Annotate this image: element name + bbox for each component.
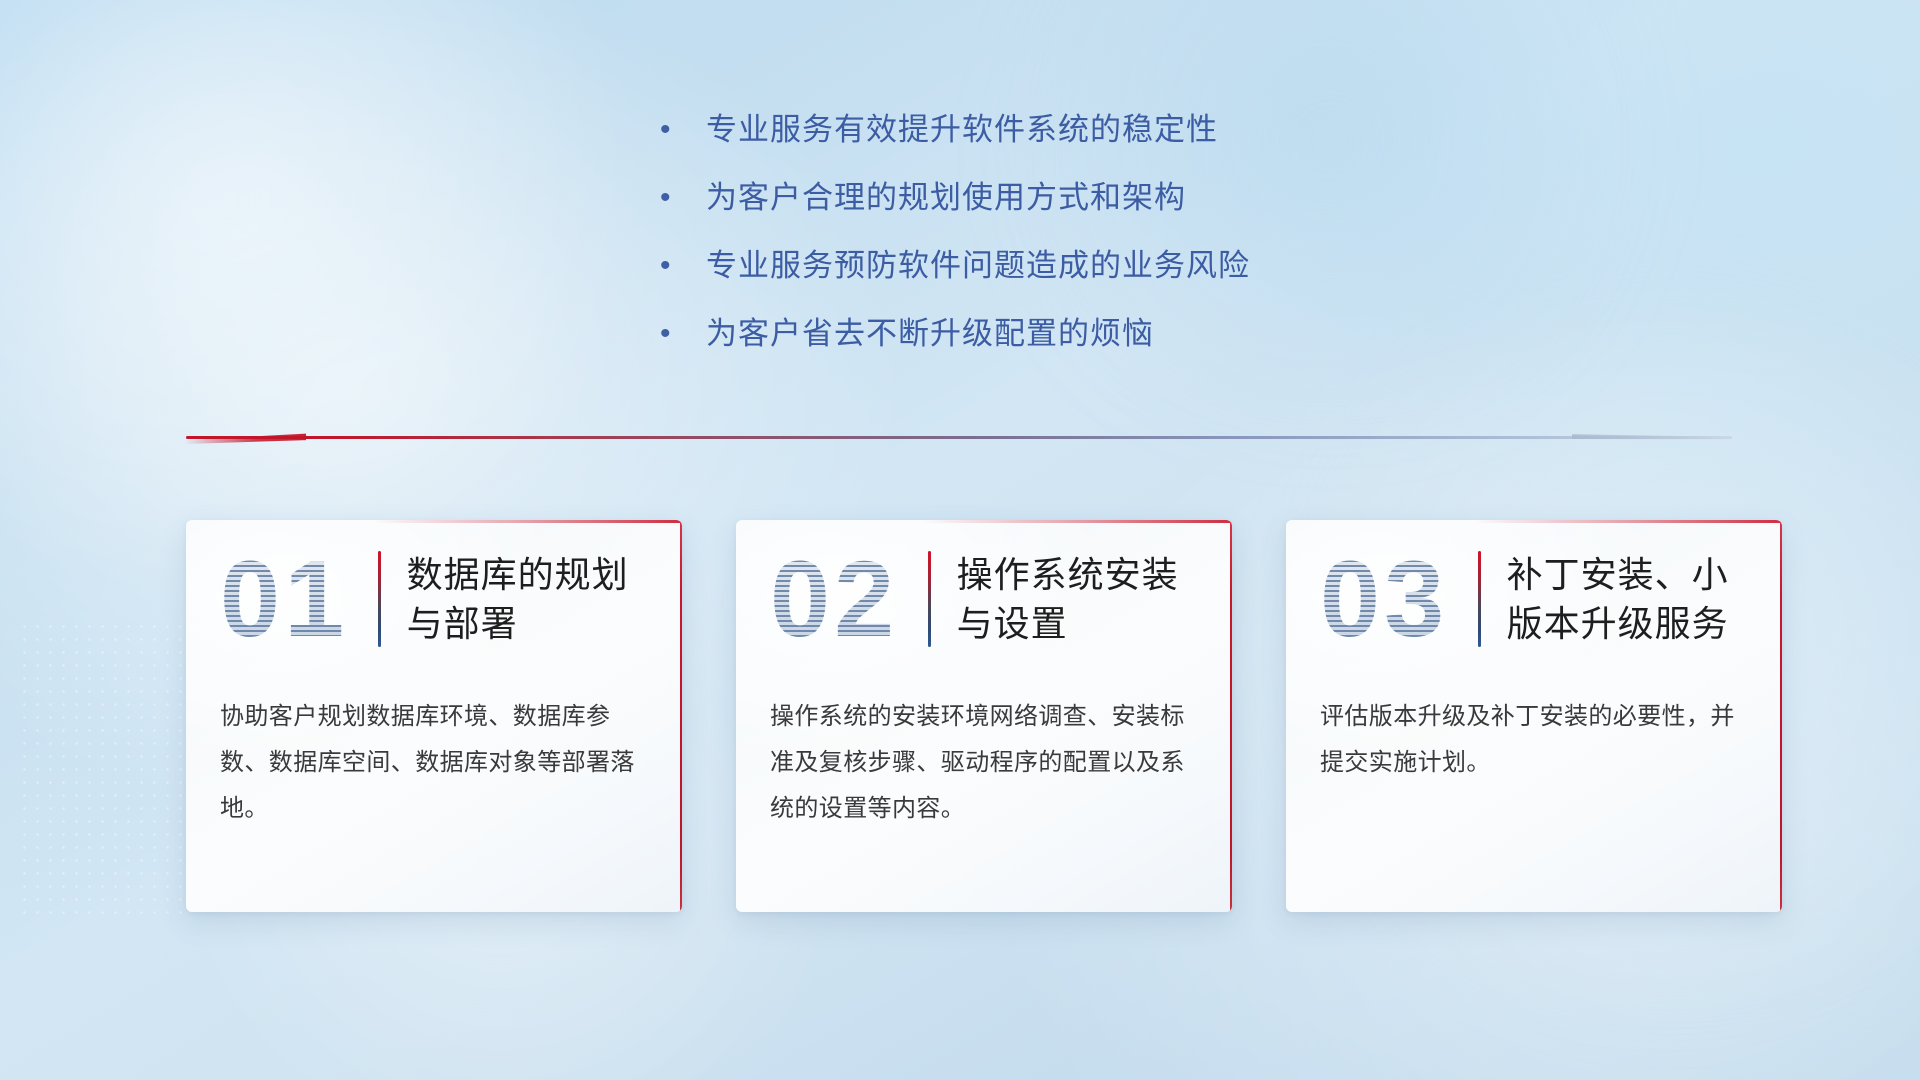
card-title: 数据库的规划 与部署 [407, 550, 629, 648]
light-blob-top-left [0, 0, 680, 580]
card-header: 02 操作系统安装 与设置 [736, 520, 1232, 670]
card-body-text: 协助客户规划数据库环境、数据库参数、数据库空间、数据库对象等部署落地。 [186, 670, 682, 832]
card-number: 02 [770, 545, 898, 653]
divider-line [186, 436, 1732, 439]
bullet-item: • 为客户合理的规划使用方式和架构 [660, 178, 1420, 218]
bullet-text: 专业服务有效提升软件系统的稳定性 [706, 110, 1218, 150]
feature-card-03[interactable]: 03 补丁安装、小 版本升级服务 评估版本升级及补丁安装的必要性，并提交实施计划… [1286, 520, 1782, 912]
card-body-text: 评估版本升级及补丁安装的必要性，并提交实施计划。 [1286, 670, 1782, 786]
feature-card-row: 01 数据库的规划 与部署 协助客户规划数据库环境、数据库参数、数据库空间、数据… [186, 520, 1786, 912]
feature-card-02[interactable]: 02 操作系统安装 与设置 操作系统的安装环境网络调查、安装标准及复核步骤、驱动… [736, 520, 1232, 912]
card-title: 操作系统安装 与设置 [957, 550, 1179, 648]
card-number-divider [378, 551, 381, 647]
card-number: 03 [1320, 545, 1448, 653]
divider-right-taper [1572, 430, 1732, 444]
bullet-text: 专业服务预防软件问题造成的业务风险 [706, 246, 1250, 286]
bullet-text: 为客户合理的规划使用方式和架构 [706, 178, 1186, 218]
card-number-divider [1478, 551, 1481, 647]
bullet-dot-icon: • [660, 178, 678, 218]
card-body-text: 操作系统的安装环境网络调查、安装标准及复核步骤、驱动程序的配置以及系统的设置等内… [736, 670, 1232, 832]
card-number-divider [928, 551, 931, 647]
card-number: 01 [220, 545, 348, 653]
bullet-item: • 为客户省去不断升级配置的烦恼 [660, 314, 1420, 354]
dot-texture [18, 620, 188, 920]
bullet-item: • 专业服务有效提升软件系统的稳定性 [660, 110, 1420, 150]
card-header: 03 补丁安装、小 版本升级服务 [1286, 520, 1782, 670]
bullet-dot-icon: • [660, 314, 678, 354]
bullet-list: • 专业服务有效提升软件系统的稳定性 • 为客户合理的规划使用方式和架构 • 专… [660, 110, 1420, 382]
bullet-item: • 专业服务预防软件问题造成的业务风险 [660, 246, 1420, 286]
slide-canvas: • 专业服务有效提升软件系统的稳定性 • 为客户合理的规划使用方式和架构 • 专… [0, 0, 1920, 1080]
card-header: 01 数据库的规划 与部署 [186, 520, 682, 670]
feature-card-01[interactable]: 01 数据库的规划 与部署 协助客户规划数据库环境、数据库参数、数据库空间、数据… [186, 520, 682, 912]
bullet-dot-icon: • [660, 110, 678, 150]
bullet-text: 为客户省去不断升级配置的烦恼 [706, 314, 1154, 354]
card-title: 补丁安装、小 版本升级服务 [1507, 550, 1729, 648]
section-divider [186, 430, 1732, 444]
bullet-dot-icon: • [660, 246, 678, 286]
